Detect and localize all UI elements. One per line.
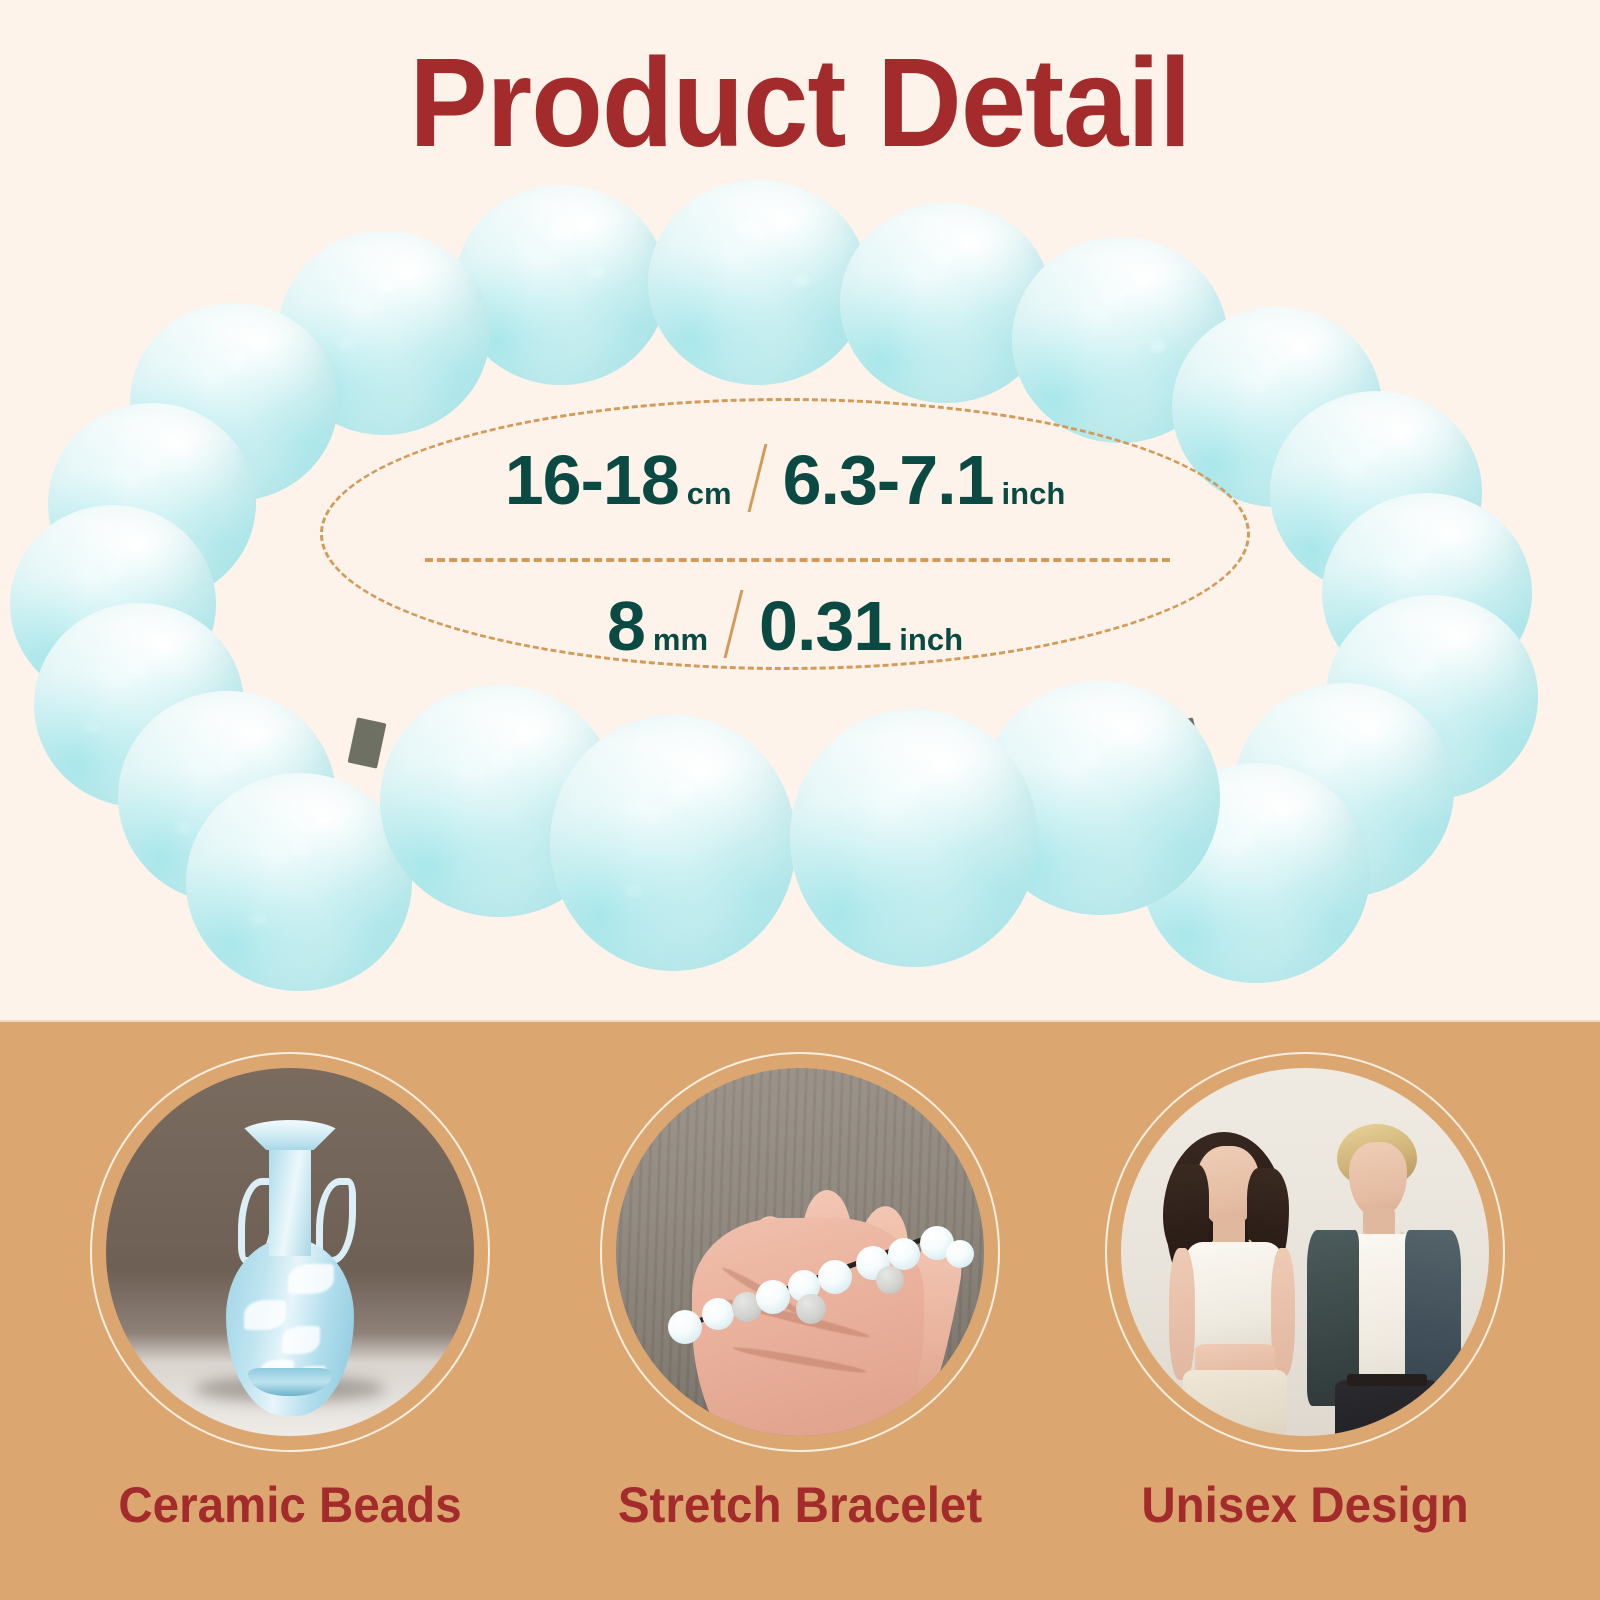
length-separator-slash [747,444,767,512]
man-trousers [1335,1380,1439,1436]
ceramic-vase-photo [106,1068,474,1436]
feature-label-unisex-design: Unisex Design [1068,1477,1543,1533]
bead [550,715,796,971]
woman-arm [1169,1248,1195,1380]
bead-separator-slash [724,590,744,658]
length-imperial-value: 6.3-7.1 [783,445,994,515]
feature-unisex-design[interactable]: Unisex Design [1055,1022,1555,1600]
size-measurements: 16-18 cm 6.3-7.1 inch 8 mm 0.31 inch [320,398,1250,670]
mini-bead [702,1298,734,1330]
feature-ceramic-beads[interactable]: Ceramic Beads [40,1022,540,1600]
stretch-bracelet-photo [616,1068,984,1436]
mini-bead [888,1238,920,1270]
unisex-couple-photo [1121,1068,1489,1436]
mini-bead [796,1294,826,1324]
feature-stretch-bracelet[interactable]: Stretch Bracelet [550,1022,1050,1600]
measurement-row-length: 16-18 cm 6.3-7.1 inch [320,436,1250,515]
bead-imperial-unit: inch [899,624,963,655]
feature-label-ceramic-beads: Ceramic Beads [53,1477,528,1533]
bead-metric-value: 8 [607,591,645,661]
bracelet-cord [348,717,387,768]
measurement-row-bead-size: 8 mm 0.31 inch [320,582,1250,661]
bead-imperial-value: 0.31 [759,591,891,661]
bead-metric-unit: mm [653,624,708,655]
mini-bead [668,1310,702,1344]
features-section: Ceramic Beads [0,1022,1600,1600]
length-metric-value: 16-18 [505,445,679,515]
page-title: Product Detail [56,38,1544,168]
bead [648,180,868,385]
measurement-divider [425,558,1170,562]
man-belt [1347,1374,1427,1386]
woman-crop-top [1185,1242,1283,1348]
mini-bead [818,1260,852,1294]
mini-bead [756,1280,790,1314]
product-detail-page: Product Detail [0,0,1600,1600]
length-imperial-unit: inch [1002,478,1066,509]
woman-trousers [1183,1370,1287,1436]
mini-bead [876,1266,904,1294]
mini-bead [946,1240,974,1268]
length-metric-unit: cm [687,478,732,509]
bead [790,709,1038,967]
bead [186,773,412,991]
feature-label-stretch-bracelet: Stretch Bracelet [563,1477,1038,1533]
hero-section: Product Detail [0,0,1600,1022]
